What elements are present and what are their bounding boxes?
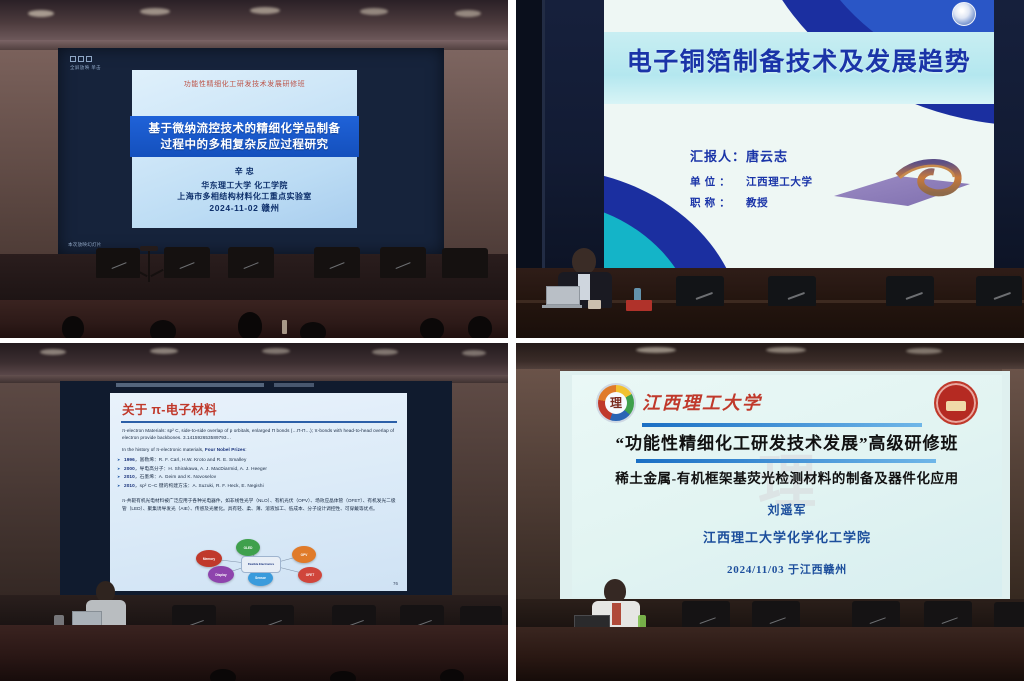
ceiling-light xyxy=(250,7,280,14)
audience-head xyxy=(330,671,356,681)
chair xyxy=(676,276,724,306)
tripod-pole xyxy=(148,248,150,282)
audience-head xyxy=(440,669,464,681)
chair xyxy=(228,247,274,278)
chair xyxy=(768,276,816,306)
photo-panel-bottom-right: 理 理 江西理工大学 “功能性精细化工研发技术发展”高级研修班 稀土金属-有机框… xyxy=(516,343,1024,681)
chair xyxy=(96,248,140,278)
ceiling-light xyxy=(462,350,486,356)
nobel-topic: 石墨烯： xyxy=(140,474,159,479)
head-table xyxy=(516,627,1024,681)
slide-title-line1: 基于微纳流控技术的精细化学品制备 xyxy=(149,121,341,137)
chair xyxy=(682,601,730,629)
copper-foil-graphic-icon xyxy=(832,154,972,208)
slide-presenter-label: 汇报人： xyxy=(690,149,746,164)
chair xyxy=(314,247,360,278)
nobel-intro-post: : xyxy=(245,447,246,452)
water-bottle xyxy=(282,320,287,334)
slide-unit-value: 江西理工大学 xyxy=(746,176,813,188)
nobel-year: 2010 xyxy=(124,474,135,479)
laptop-screen xyxy=(546,286,580,305)
chair xyxy=(852,601,900,629)
slide-paragraph-3: π-共轭有机光电材料被广泛应用于各种光电器件，如非线性光学（NLO）、有机光伏（… xyxy=(122,497,398,513)
ceiling-light xyxy=(455,10,481,17)
ceiling-light xyxy=(360,8,388,15)
university-name: 江西理工大学 xyxy=(642,389,762,415)
slide-bottom-right: 理 理 江西理工大学 “功能性精细化工研发技术发展”高级研修班 稀土金属-有机框… xyxy=(572,375,1002,597)
flexible-electronics-diagram: OLED Memory OPV Display OFET Sensor Flex… xyxy=(186,539,336,587)
presenter-toolbar-right[interactable] xyxy=(274,383,314,387)
ceiling xyxy=(516,343,1024,369)
slide-date-place: 2024-11-02 赣州 xyxy=(132,202,357,214)
photo-panel-bottom-left: 关于 π-电子材料 π-electron Materials: sp² C, s… xyxy=(0,343,508,681)
slide-paragraph-1: π-electron Materials: sp² C, side-to-sid… xyxy=(122,427,397,442)
speaker-tie xyxy=(612,603,621,625)
chair xyxy=(380,247,426,278)
chair xyxy=(886,276,934,306)
ceiling-light xyxy=(372,349,398,355)
slide-rank-label: 职 称 ： xyxy=(690,195,746,210)
laptop-base xyxy=(542,305,582,308)
nobel-intro-bold: Four Nobel Prizes xyxy=(205,447,245,452)
slide-title-banner: 基于微纳流控技术的精细化学品制备 过程中的多相复杂反应过程研究 xyxy=(130,116,359,157)
ceiling-light xyxy=(40,349,66,355)
university-emblem-icon xyxy=(952,2,976,26)
projection-screen: 电子铜箔制备技术及发展趋势 汇报人：唐云志 单 位 ：江西理工大学 职 称 ：教… xyxy=(604,0,994,268)
slide-title-rule xyxy=(121,421,397,423)
audience-head xyxy=(210,669,236,681)
wall-seam xyxy=(542,0,545,268)
red-seal-logo-icon xyxy=(934,381,978,425)
slide-speaker-block: 辛 忠 华东理工大学 化工学院 上海市多相结构材料化工重点实验室 xyxy=(132,166,357,202)
slide-page-number: 76 xyxy=(393,581,398,586)
speaker-head xyxy=(96,581,115,602)
minimize-icon[interactable] xyxy=(70,56,76,62)
divider-top xyxy=(642,423,922,427)
slide-unit-row: 单 位 ：江西理工大学 xyxy=(690,174,813,189)
node-memory: Memory xyxy=(196,550,222,567)
photo-panel-top-left: 全屏放映 单击 本次放映幻灯片 功能性精细化工研发技术发展研修班 基于微纳流控技… xyxy=(0,0,508,338)
nobel-year: 1996 xyxy=(124,457,135,462)
ceiling-light xyxy=(636,347,676,353)
nobel-topic: sp² C–C 键的构建方法： xyxy=(140,483,193,488)
nobel-year: 2000 xyxy=(124,466,135,471)
maximize-icon[interactable] xyxy=(78,56,84,62)
slide-speaker: 刘遥军 xyxy=(572,501,1002,518)
list-item: 2000，导电高分子：H. Shirakawa, A. J. MacDiarmi… xyxy=(124,466,397,472)
slide-unit-label: 单 位 ： xyxy=(690,174,746,189)
audience-head xyxy=(238,312,262,338)
ceiling-light xyxy=(906,348,942,354)
slide-speaker: 辛 忠 xyxy=(132,166,357,177)
slide-affiliation-1: 华东理工大学 化工学院 xyxy=(132,180,357,191)
audience-head xyxy=(300,322,326,338)
jxust-roundel-logo-icon: 理 xyxy=(596,383,636,423)
slide-presenter-value: 唐云志 xyxy=(746,149,788,164)
name-plate xyxy=(626,300,652,311)
slide-top-left: 功能性精细化工研发技术发展研修班 基于微纳流控技术的精细化学品制备 过程中的多相… xyxy=(132,70,357,228)
nobel-topic: 导电高分子： xyxy=(140,466,169,471)
nobel-laureates: A. Suzuki, R. F. Heck, E. Negishi xyxy=(192,483,263,488)
nobel-laureates: R. F. Carl, H.W. Kroto and R. E. Smalley xyxy=(159,457,247,462)
divider-bottom xyxy=(636,459,936,463)
projection-screen: 理 理 江西理工大学 “功能性精细化工研发技术发展”高级研修班 稀土金属-有机框… xyxy=(560,371,1010,599)
chair xyxy=(976,276,1022,306)
side-wall-left xyxy=(516,0,542,268)
slide-date-place: 2024/11/03 于江西赣州 xyxy=(572,561,1002,577)
slide-title-line2: 过程中的多相复杂反应过程研究 xyxy=(161,137,329,153)
projection-screen: 全屏放映 单击 本次放映幻灯片 功能性精细化工研发技术发展研修班 基于微纳流控技… xyxy=(58,48,444,254)
nobel-laureates: A. Geim and K. Novoselov xyxy=(159,474,216,479)
presenter-toolbar[interactable] xyxy=(116,383,264,387)
tea-cup xyxy=(588,300,601,309)
nobel-prize-list: 1996，富勒烯：R. F. Carl, H.W. Kroto and R. E… xyxy=(110,457,407,489)
slide-rank-row: 职 称 ：教授 xyxy=(690,195,813,210)
list-item: 1996，富勒烯：R. F. Carl, H.W. Kroto and R. E… xyxy=(124,457,397,463)
chair xyxy=(752,601,800,629)
speaker-head xyxy=(604,579,626,603)
lecture-title: 稀土金属-有机框架基荧光检测材料的制备及器件化应用 xyxy=(572,467,1002,487)
slide-header: 功能性精细化工研发技术发展研修班 xyxy=(132,79,357,89)
ceiling-light xyxy=(766,347,806,353)
chair xyxy=(164,247,210,278)
node-center-flexible-electronics: Flexible Electronics xyxy=(241,556,281,573)
node-display: Display xyxy=(208,566,234,583)
head-table xyxy=(0,625,508,681)
slide-affiliation-2: 上海市多相结构材料化工重点实验室 xyxy=(132,191,357,202)
ceiling xyxy=(0,343,508,375)
logo-glyph: 理 xyxy=(610,394,622,411)
nobel-year: 2010 xyxy=(124,483,135,488)
tripod-head xyxy=(140,246,158,251)
chair xyxy=(994,602,1024,629)
side-wall-right xyxy=(452,383,508,609)
photo-collage: 全屏放映 单击 本次放映幻灯片 功能性精细化工研发技术发展研修班 基于微纳流控技… xyxy=(0,0,1024,681)
presenter-toolbar[interactable]: 全屏放映 单击 xyxy=(70,56,101,71)
grid-icon[interactable] xyxy=(86,56,92,62)
ceiling-light xyxy=(140,8,170,15)
nobel-intro-pre: In the history of π-electronic materials… xyxy=(122,447,205,452)
photo-panel-top-right: 电子铜箔制备技术及发展趋势 汇报人：唐云志 单 位 ：江西理工大学 职 称 ：教… xyxy=(516,0,1024,338)
slide-title: 电子铜箔制备技术及发展趋势 xyxy=(604,38,994,86)
slideshow-status: 本次放映幻灯片 xyxy=(68,242,102,248)
slide-paragraph-2: In the history of π-electronic materials… xyxy=(122,446,397,454)
ceiling-light xyxy=(28,10,54,17)
side-wall-left xyxy=(516,369,560,603)
slide-bottom-left: 关于 π-电子材料 π-electron Materials: sp² C, s… xyxy=(110,393,407,591)
audience-head xyxy=(150,320,176,338)
slide-presenter-row: 汇报人：唐云志 xyxy=(690,146,813,165)
slide-title: 关于 π-电子材料 xyxy=(110,393,407,418)
ceiling-light xyxy=(262,348,290,354)
ceiling-light xyxy=(150,348,178,354)
nobel-laureates: H. Shirakawa, A. J. MacDiarmid, A. J. He… xyxy=(168,466,267,471)
audience-head xyxy=(420,318,444,338)
program-title: “功能性精细化工研发技术发展”高级研修班 xyxy=(572,429,1002,454)
list-item: 2010，石墨烯：A. Geim and K. Novoselov xyxy=(124,474,397,480)
chair xyxy=(442,248,488,278)
laptop xyxy=(546,286,582,308)
node-ofet: OFET xyxy=(298,567,322,583)
audience-head xyxy=(468,316,492,338)
slide-rank-value: 教授 xyxy=(746,197,768,209)
audience-head xyxy=(62,316,84,338)
speaker-head xyxy=(572,248,596,274)
projection-screen: 关于 π-电子材料 π-electron Materials: sp² C, s… xyxy=(60,381,452,595)
slideshow-hint: 全屏放映 单击 xyxy=(70,65,101,71)
slide-affiliation: 江西理工大学化学化工学院 xyxy=(572,527,1002,546)
list-item: 2010，sp² C–C 键的构建方法：A. Suzuki, R. F. Hec… xyxy=(124,483,397,489)
chair xyxy=(924,601,972,629)
side-wall-left xyxy=(0,383,60,609)
node-opv: OPV xyxy=(292,546,316,563)
slide-info-block: 汇报人：唐云志 单 位 ：江西理工大学 职 称 ：教授 xyxy=(690,146,813,216)
ceiling xyxy=(0,0,508,40)
node-oled: OLED xyxy=(236,539,260,556)
nobel-topic: 富勒烯： xyxy=(140,457,159,462)
